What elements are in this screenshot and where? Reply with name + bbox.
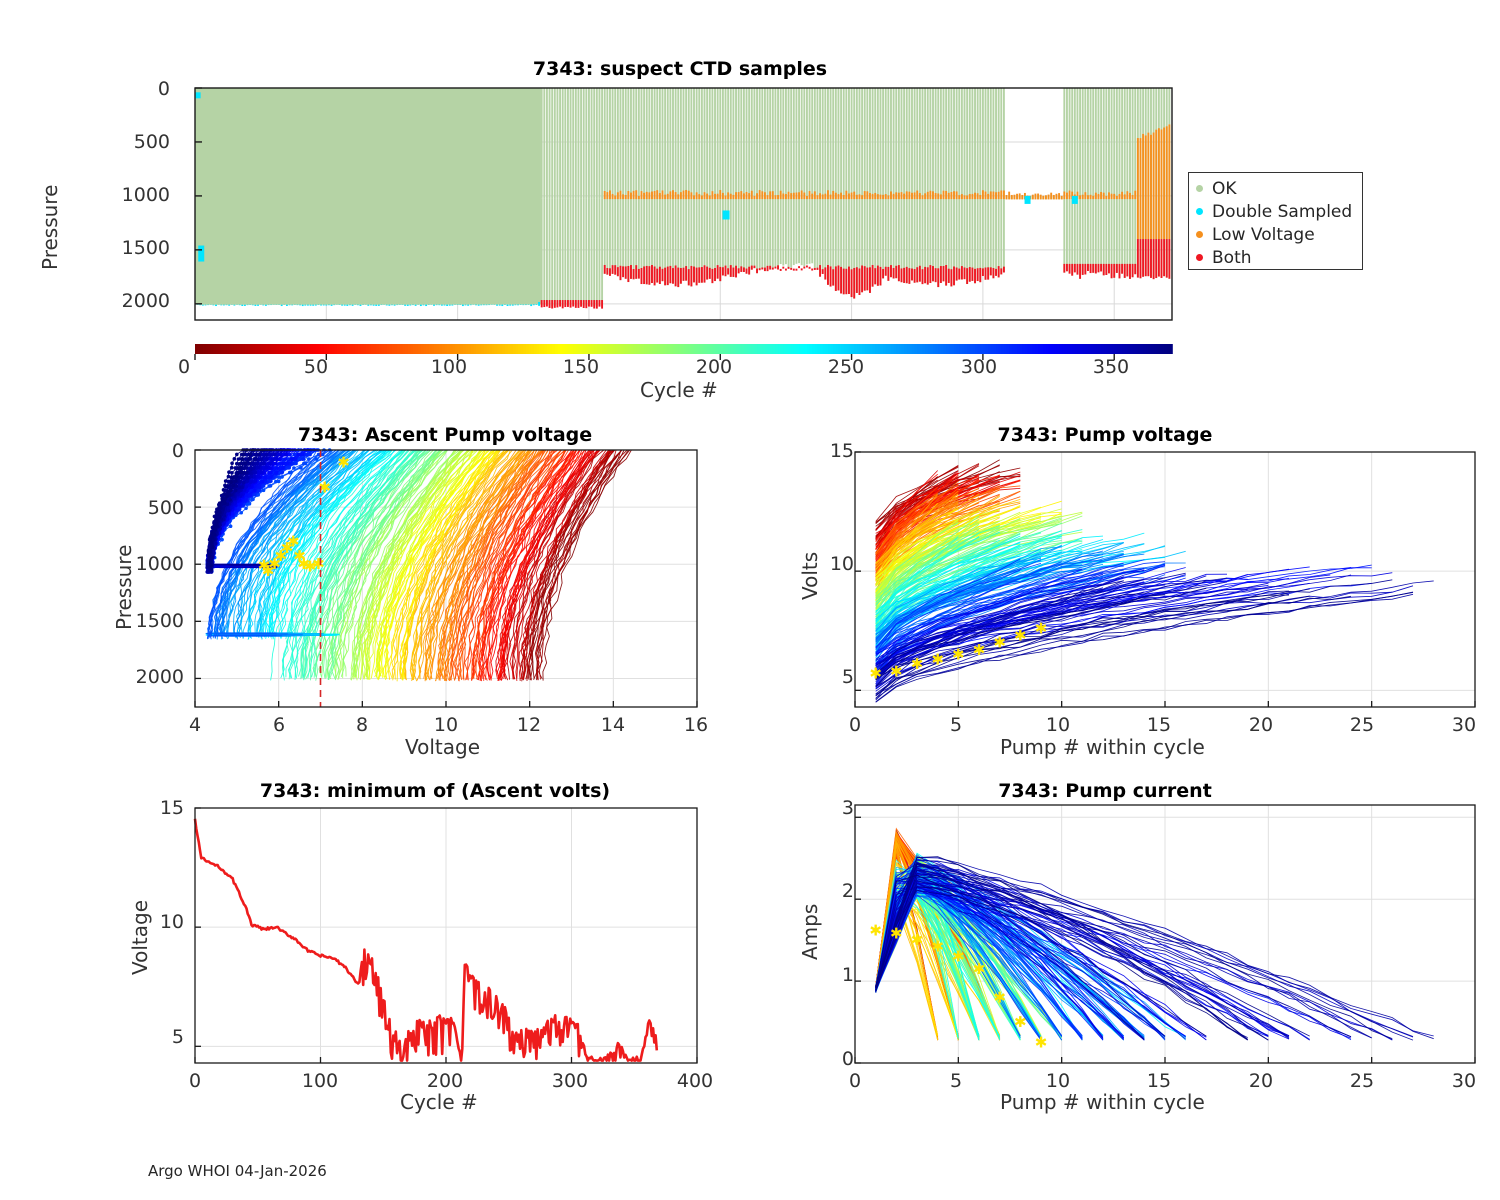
svg-text:✱: ✱ [1035, 1034, 1048, 1052]
svg-text:✱: ✱ [952, 948, 965, 966]
svg-text:✱: ✱ [973, 960, 986, 978]
svg-text:✱: ✱ [931, 938, 944, 956]
panel-pump-current: 7343: Pump current Amps Pump # within cy… [760, 0, 1500, 1140]
svg-text:✱: ✱ [993, 988, 1006, 1006]
plot-area-pump-current: ✱✱✱✱✱✱✱✱✱ [760, 0, 1500, 1140]
svg-text:✱: ✱ [1014, 1013, 1027, 1031]
panel-min-ascent-volts: 7343: minimum of (Ascent volts) Voltage … [0, 0, 760, 1140]
svg-text:✱: ✱ [869, 921, 882, 939]
svg-text:✱: ✱ [911, 931, 924, 949]
plot-area-min-ascent-volts [0, 0, 760, 1140]
figure-footer: Argo WHOI 04-Jan-2026 [148, 1162, 327, 1180]
svg-text:✱: ✱ [890, 925, 903, 943]
